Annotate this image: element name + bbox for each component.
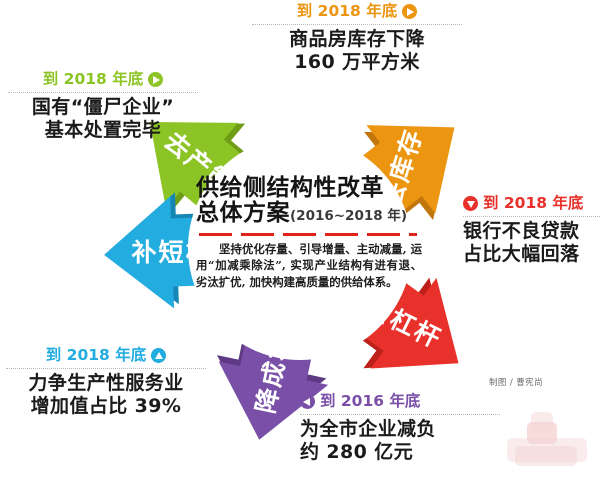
callout-cyan-body: 力争生产性服务业 增加值占比 39%: [6, 372, 206, 420]
callout-red-heading-text: 到 2018 年底: [483, 196, 583, 212]
callout-green-heading: 到 2018 年底: [8, 72, 198, 88]
callout-purple-heading: 到 2016 年底: [300, 394, 500, 410]
callout-orange-heading-text: 到 2018 年底: [297, 4, 397, 20]
triangle-right-icon: [148, 72, 163, 87]
callout-purple-rule: [300, 414, 500, 415]
callout-green-rule: [8, 92, 198, 93]
callout-cyan: 到 2018 年底 力争生产性服务业 增加值占比 39%: [6, 348, 206, 419]
callout-red: 到 2018 年底 银行不良贷款 占比大幅回落: [463, 196, 600, 267]
center-panel: 供给侧结构性改革 总体方案(2016~2018 年) 坚持优化存量、引导增量、主…: [196, 176, 428, 326]
triangle-right-icon: [402, 4, 417, 19]
callout-green-body: 国有“僵尸企业” 基本处置完毕: [8, 96, 198, 144]
callout-red-heading: 到 2018 年底: [463, 196, 600, 212]
center-paragraph: 坚持优化存量、引导增量、主动减量, 运用“加减乘除法”, 实现产业结构有进有退、…: [196, 241, 422, 291]
watermark-blob: [505, 408, 591, 470]
callout-orange-body: 商品房库存下降 160 万平方米: [252, 28, 462, 76]
triangle-down-icon: [463, 196, 478, 211]
callout-purple-heading-text: 到 2016 年底: [320, 394, 420, 410]
center-title-wrap: 供给侧结构性改革 总体方案(2016~2018 年): [196, 176, 428, 227]
credit-line: 制图 / 曹宪尚: [489, 376, 543, 388]
infographic-canvas: 去产能 去库存 去杠杆 降成本 补短板 供给侧结构性改革 总体方案(2016~2…: [0, 0, 600, 480]
callout-cyan-heading: 到 2018 年底: [6, 348, 206, 364]
triangle-left-icon: [300, 394, 315, 409]
callout-orange-heading: 到 2018 年底: [252, 4, 462, 20]
center-years: (2016~2018 年): [290, 208, 407, 224]
callout-cyan-heading-text: 到 2018 年底: [46, 348, 146, 364]
callout-green: 到 2018 年底 国有“僵尸企业” 基本处置完毕: [8, 72, 198, 143]
title-divider: [199, 233, 417, 236]
callout-orange: 到 2018 年底 商品房库存下降 160 万平方米: [252, 4, 462, 75]
callout-orange-rule: [252, 24, 462, 25]
callout-purple-body: 为全市企业减负 约 280 亿元: [300, 418, 500, 466]
triangle-up-icon: [151, 348, 166, 363]
callout-purple: 到 2016 年底 为全市企业减负 约 280 亿元: [300, 394, 500, 465]
callout-green-heading-text: 到 2018 年底: [43, 72, 143, 88]
callout-cyan-rule: [6, 368, 206, 369]
callout-red-rule: [463, 216, 600, 217]
callout-red-body: 银行不良贷款 占比大幅回落: [463, 220, 600, 268]
